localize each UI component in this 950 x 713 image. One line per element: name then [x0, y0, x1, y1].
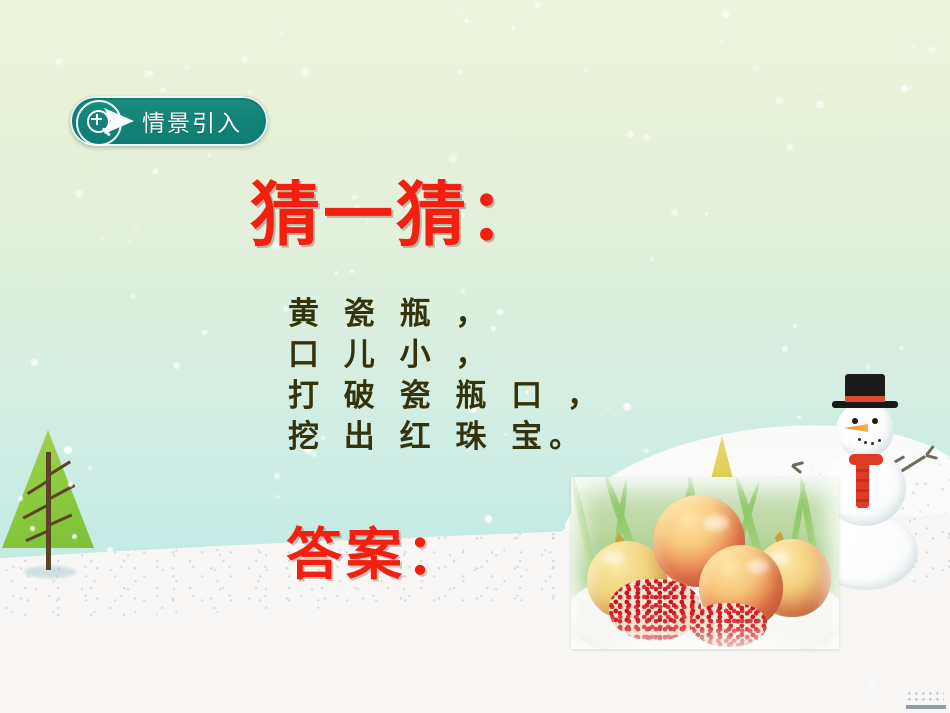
presentation-slide: 情景引入 猜一猜： 黄 瓷 瓶 ， 口 儿 小 ， 打 破 瓷 瓶 口 ， 挖 …: [0, 0, 950, 713]
snowflake: [127, 239, 129, 241]
snowflake: [207, 153, 211, 157]
pomegranate-cut-open: [609, 579, 701, 641]
snowflake: [160, 88, 165, 93]
pomegranate-highlight: [703, 515, 729, 531]
snowman-mouth-dot: [871, 442, 874, 445]
snowflake: [41, 276, 43, 278]
snowflake: [461, 289, 465, 293]
pomegranates-on-plate-photo: [571, 477, 839, 649]
snowman-eye-right: [872, 418, 878, 424]
snowflake: [799, 165, 802, 168]
pine-tree-light: [30, 526, 35, 531]
snowflake: [793, 324, 797, 328]
magnifier-plus-vertical: [96, 114, 98, 125]
snowflake: [816, 101, 824, 109]
snowflake: [720, 40, 722, 42]
snowflake: [465, 19, 469, 23]
snowflake: [135, 229, 137, 231]
snowman-scarf: [849, 454, 883, 465]
snowflake: [185, 65, 189, 69]
corner-texture: [908, 691, 944, 703]
snowflake: [173, 362, 181, 370]
pine-tree-light: [68, 482, 73, 487]
answer-label: 答案：: [286, 528, 466, 584]
snowflake: [900, 346, 903, 349]
snowflake: [866, 364, 870, 368]
snowflake: [623, 403, 630, 410]
snowflake: [202, 330, 207, 335]
snowflake: [901, 85, 908, 92]
snowman-mouth-dot: [858, 438, 861, 441]
snowflake: [153, 169, 158, 174]
snowflake: [101, 238, 103, 240]
snowflake: [485, 515, 493, 523]
snowflake: [584, 69, 587, 72]
snowflake: [458, 69, 463, 74]
badge-icon-ring: [76, 100, 122, 146]
pomegranate-seeds: [691, 603, 767, 647]
snowman-mouth-dot: [864, 441, 867, 444]
snowflake: [335, 271, 338, 274]
snowman-eye-left: [852, 418, 858, 424]
snowflake: [723, 11, 729, 17]
snowflake: [276, 495, 280, 499]
snowman-scarf-tail: [856, 462, 869, 508]
snowflake: [459, 9, 461, 11]
snowflake: [301, 68, 309, 76]
snowflake: [274, 473, 281, 480]
snowman-mouth-dot: [878, 439, 881, 442]
snowflake: [818, 88, 821, 91]
snowflake: [534, 2, 540, 8]
pomegranate-cut-piece: [691, 603, 767, 647]
snowflake: [782, 346, 788, 352]
snowflake: [787, 144, 793, 150]
snowflake: [31, 359, 38, 366]
snowflake: [56, 58, 62, 64]
snowflake: [607, 408, 609, 410]
slide-number: 2: [868, 676, 876, 693]
pine-tree-trunk: [46, 452, 51, 570]
snowflake: [902, 216, 905, 219]
snowflake: [643, 134, 650, 141]
snowflake: [131, 294, 135, 298]
snowflake: [279, 31, 282, 34]
snowflake: [911, 46, 914, 49]
pine-tree-light: [18, 496, 23, 501]
snowflake: [449, 155, 456, 162]
pomegranate-seeds: [609, 579, 701, 641]
snowflake: [241, 56, 248, 63]
page-title: 猜一猜：: [250, 180, 542, 250]
green-pine-tree: [2, 430, 102, 580]
corner-marker: [906, 705, 946, 709]
pomegranate-highlight: [603, 551, 625, 565]
snowflake: [651, 257, 655, 261]
snowflake: [753, 65, 759, 71]
snowflake: [644, 448, 648, 452]
snowflake: [910, 86, 913, 89]
snowflake: [929, 47, 936, 54]
section-badge[interactable]: 情景引入: [70, 96, 268, 146]
snowflake: [512, 26, 516, 30]
snowflake: [158, 393, 160, 395]
pine-tree-light: [72, 534, 77, 539]
snowflake: [144, 70, 151, 77]
snowflake: [350, 270, 354, 274]
section-badge-label: 情景引入: [142, 104, 242, 138]
snowflake: [149, 71, 153, 75]
snowflake: [249, 91, 252, 94]
snowflake: [705, 212, 709, 216]
snowflake: [75, 190, 83, 198]
snowflake: [671, 209, 678, 216]
snowflake: [627, 131, 634, 138]
riddle-text: 黄 瓷 瓶 ， 口 儿 小 ， 打 破 瓷 瓶 口 ， 挖 出 红 珠 宝。: [288, 294, 605, 458]
photo-content: [571, 477, 839, 649]
snowman-hat-band: [845, 396, 885, 402]
snowflake: [776, 97, 783, 104]
pomegranate-highlight: [747, 559, 769, 574]
